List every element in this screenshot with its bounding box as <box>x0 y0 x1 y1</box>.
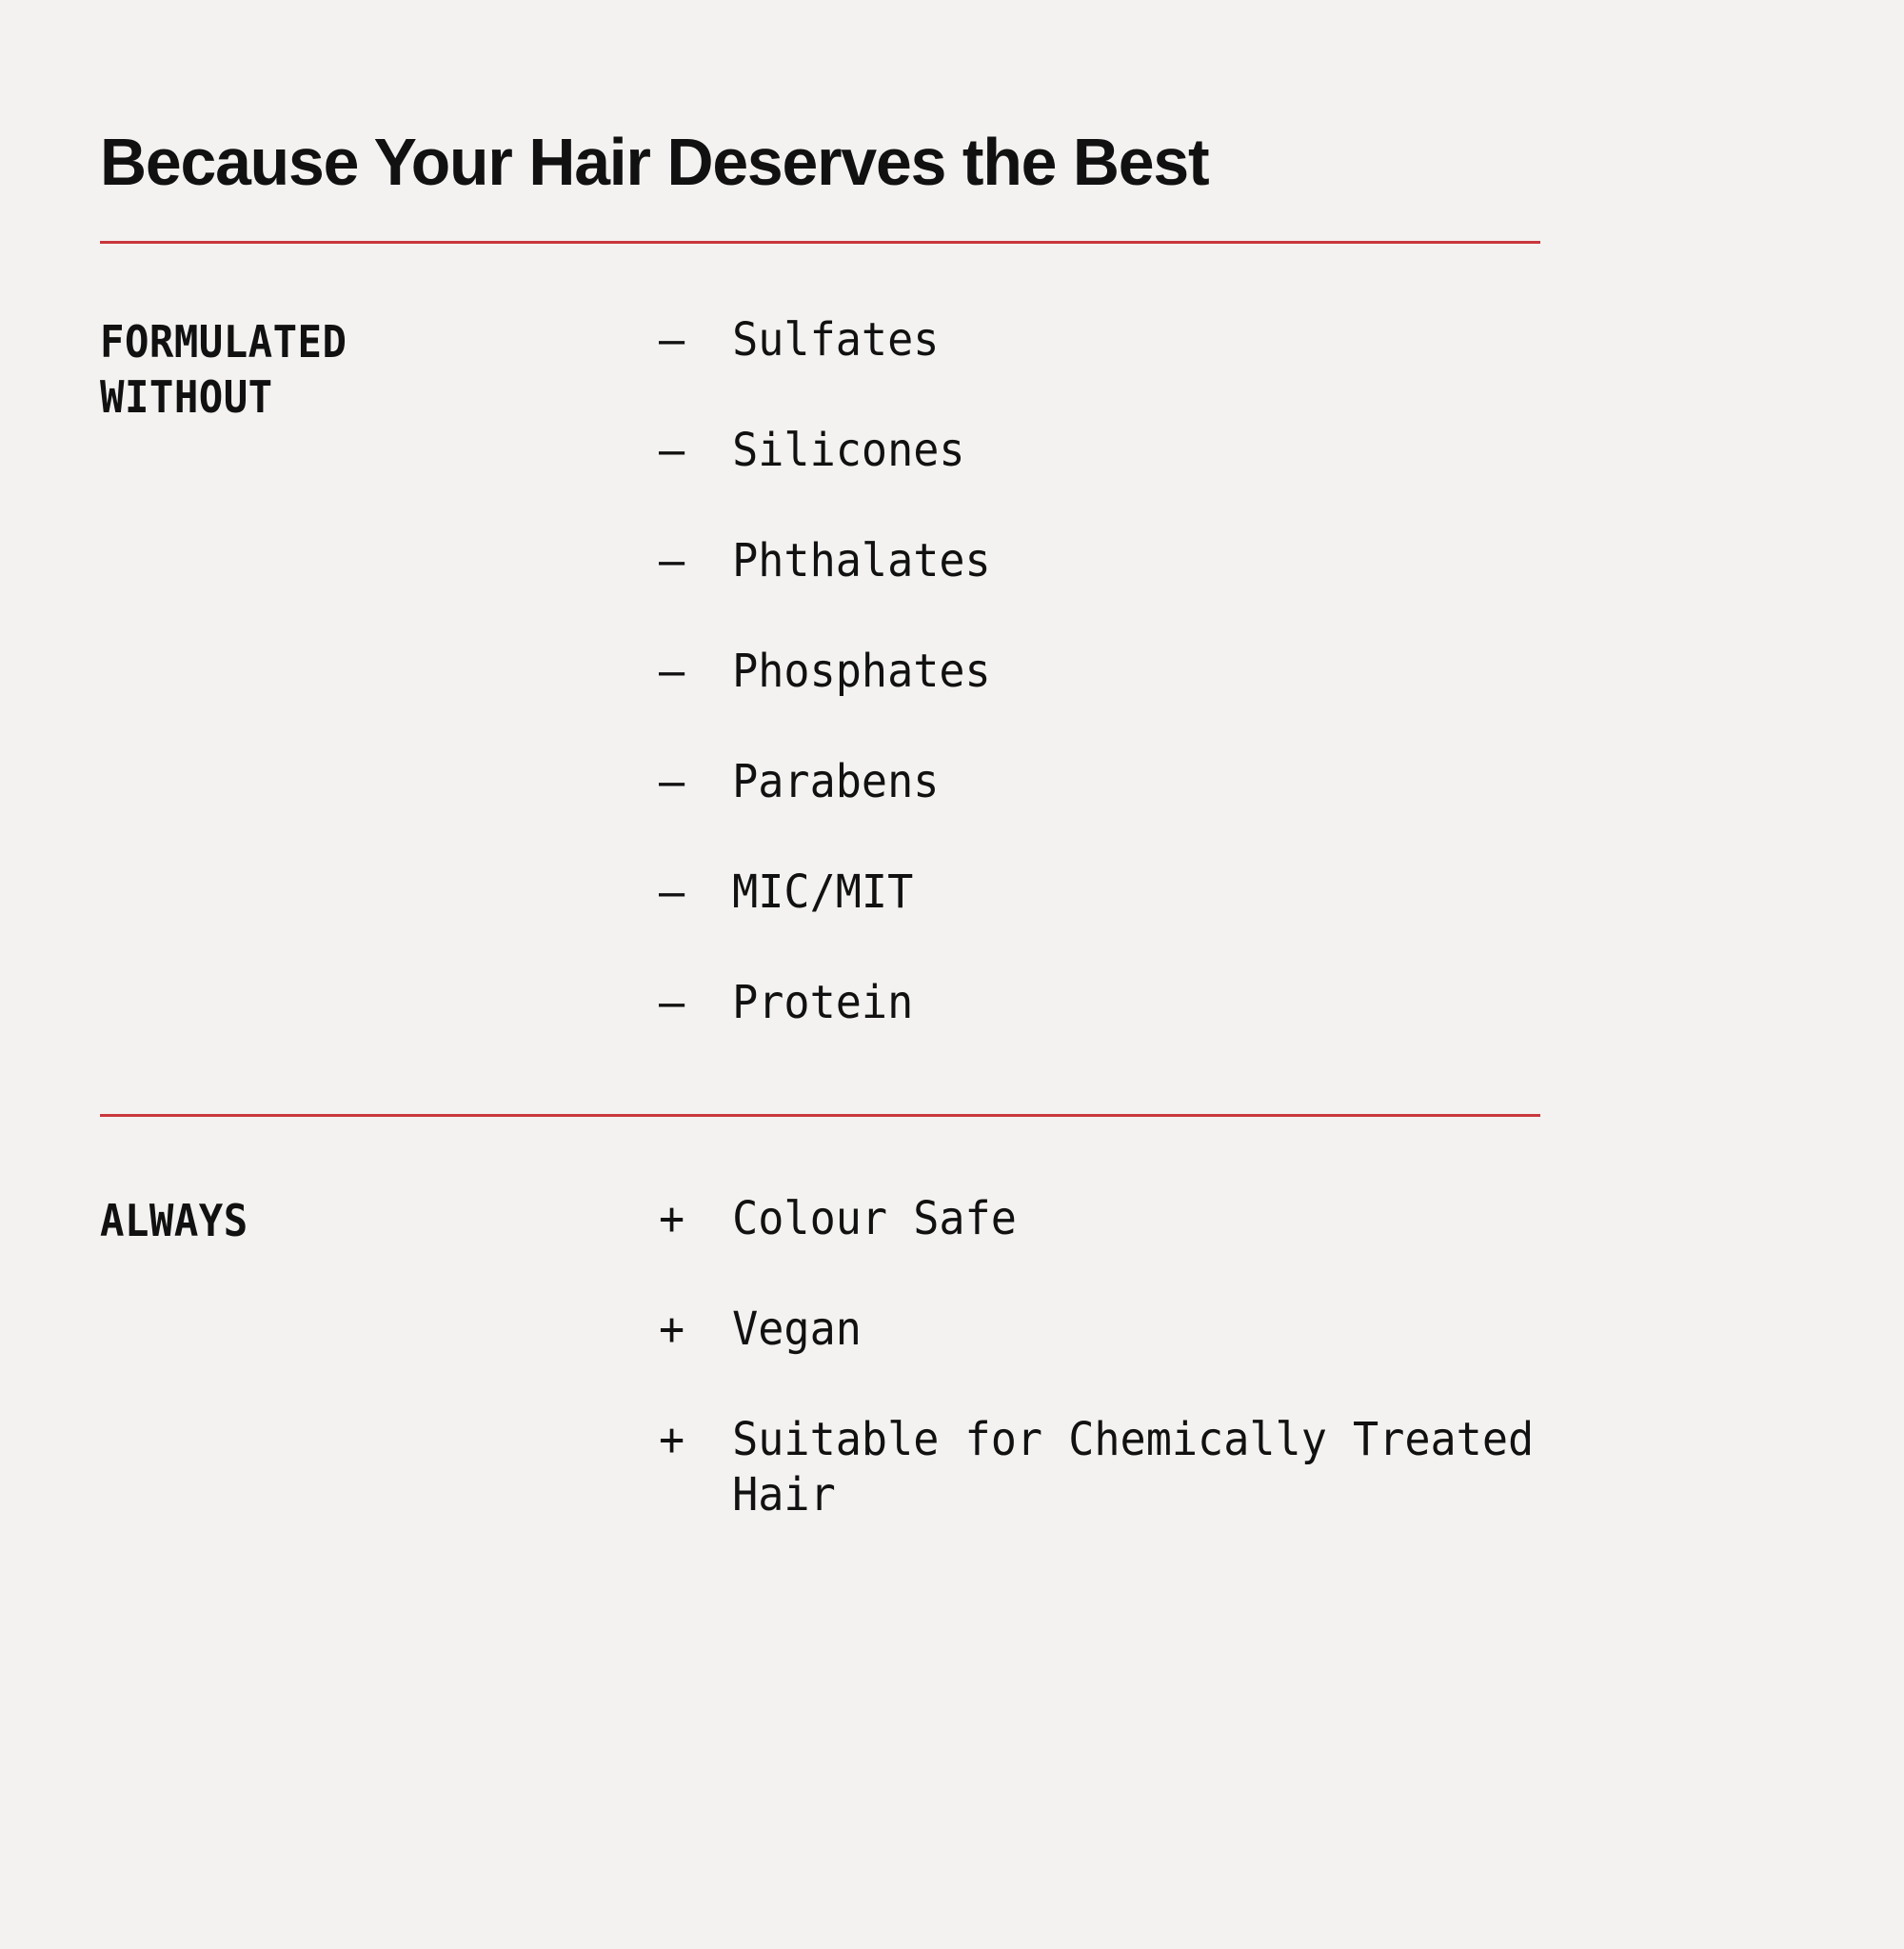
list-item-label: Parabens <box>732 754 1537 809</box>
list-item: — MIC/MIT <box>659 865 1735 920</box>
page-title: Because Your Hair Deserves the Best <box>100 45 1753 195</box>
section-label-line: WITHOUT <box>100 369 608 425</box>
list-item: + Vegan <box>659 1302 1735 1357</box>
dash-marker-icon: — <box>659 533 732 588</box>
section-label-always: ALWAYS <box>100 1193 608 1248</box>
section-label-formulated-without: FORMULATED WITHOUT <box>100 314 608 425</box>
list-item-label: Vegan <box>732 1302 1537 1357</box>
list-item-label: Sulfates <box>732 312 1537 368</box>
list-item: — Protein <box>659 975 1735 1030</box>
section-formulated-without: FORMULATED WITHOUT — Sulfates — Silicone… <box>100 244 1804 1030</box>
section-always: ALWAYS + Colour Safe + Vegan + Suitable … <box>100 1117 1804 1522</box>
product-claims-card: Because Your Hair Deserves the Best FORM… <box>0 45 1904 1949</box>
dash-marker-icon: — <box>659 975 732 1030</box>
list-item-label: Phthalates <box>732 533 1537 588</box>
list-item: + Colour Safe <box>659 1191 1735 1246</box>
list-item-label: Protein <box>732 975 1537 1030</box>
list-always: + Colour Safe + Vegan + Suitable for Che… <box>652 1191 1804 1522</box>
list-item-label: Colour Safe <box>732 1191 1537 1246</box>
list-item-label: Phosphates <box>732 644 1537 699</box>
list-item-label: Silicones <box>732 423 1537 478</box>
list-item: — Sulfates <box>659 312 1735 368</box>
section-label-line: FORMULATED <box>100 314 608 369</box>
plus-marker-icon: + <box>659 1302 732 1357</box>
section-spacer <box>100 1030 1804 1114</box>
dash-marker-icon: — <box>659 754 732 809</box>
plus-marker-icon: + <box>659 1191 732 1246</box>
dash-marker-icon: — <box>659 865 732 920</box>
list-item: — Parabens <box>659 754 1735 809</box>
list-item-label: Suitable for Chemically Treated Hair <box>732 1412 1537 1522</box>
list-item-label: MIC/MIT <box>732 865 1537 920</box>
list-formulated-without: — Sulfates — Silicones — Phthalates — Ph… <box>652 312 1804 1030</box>
list-item: — Phthalates <box>659 533 1735 588</box>
list-item: + Suitable for Chemically Treated Hair <box>659 1412 1735 1522</box>
dash-marker-icon: — <box>659 644 732 699</box>
list-item: — Phosphates <box>659 644 1735 699</box>
section-label-line: ALWAYS <box>100 1193 608 1248</box>
dash-marker-icon: — <box>659 423 732 478</box>
plus-marker-icon: + <box>659 1412 732 1467</box>
list-item: — Silicones <box>659 423 1735 478</box>
dash-marker-icon: — <box>659 312 732 368</box>
